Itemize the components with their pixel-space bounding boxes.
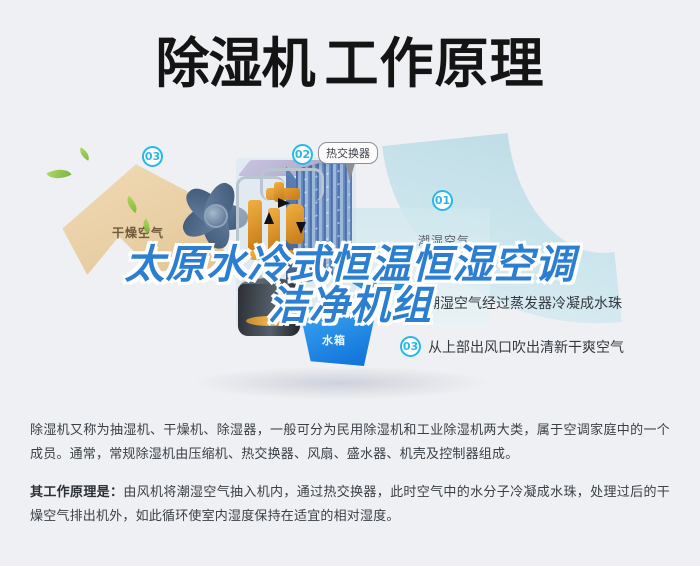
unit-shadow xyxy=(190,366,490,400)
badge-02: 02 xyxy=(292,144,313,165)
dry-air-label: 干燥空气 xyxy=(112,224,164,241)
step-text-03: 从上部出风口吹出清新干爽空气 xyxy=(428,337,624,357)
page-title-part1: 除湿机 xyxy=(156,32,315,95)
badge-01: 01 xyxy=(432,190,453,211)
badge-03: 03 xyxy=(142,146,163,167)
step-item-03: 03 从上部出风口吹出清新干爽空气 xyxy=(400,336,624,357)
leaf-icon xyxy=(77,147,92,160)
step-badge-03: 03 xyxy=(400,336,421,357)
step-badge-02: 02 xyxy=(398,292,419,313)
page-title-part2: 工作原理 xyxy=(325,32,545,95)
dehumidifier-diagram: 干燥空气 xyxy=(0,128,700,410)
paragraph-2-text: 由风机将潮湿空气抽入机内，通过热交换器，此时空气中的水分子冷凝成水珠，处理过后的… xyxy=(30,484,670,523)
humid-air-label: 潮湿空气 xyxy=(418,232,470,249)
refrigerant-coils-icon xyxy=(244,182,310,270)
step-text-02: 潮湿空气经过蒸发器冷凝成水珠 xyxy=(426,293,622,313)
water-tank-label: 水箱 xyxy=(322,332,346,348)
heat-exchanger-callout: 热交换器 xyxy=(318,142,378,164)
arrow-right-icon xyxy=(278,198,290,208)
compressor-icon xyxy=(238,284,300,336)
paragraph-2-lead: 其工作原理是： xyxy=(30,484,123,499)
body-copy: 除湿机又称为抽湿机、干燥机、除湿器，一般可分为民用除湿机和工业除湿机两大类，属于… xyxy=(30,418,670,542)
page-title: 除湿机工作原理 xyxy=(156,37,545,91)
step-item-02: 02 潮湿空气经过蒸发器冷凝成水珠 xyxy=(398,292,622,313)
fan-hub-icon xyxy=(204,204,228,228)
compressor-band xyxy=(246,316,294,326)
paragraph-2: 其工作原理是：由风机将潮湿空气抽入机内，通过热交换器，此时空气中的水分子冷凝成水… xyxy=(30,480,670,528)
leaf-icon xyxy=(46,164,71,184)
page-root: 除湿机工作原理 干燥空气 xyxy=(0,0,700,566)
paragraph-1: 除湿机又称为抽湿机、干燥机、除湿器，一般可分为民用除湿机和工业除湿机两大类，属于… xyxy=(30,418,670,466)
page-header: 除湿机工作原理 xyxy=(0,0,700,128)
arrow-up-icon xyxy=(264,212,274,224)
arrow-down-icon xyxy=(296,222,306,234)
